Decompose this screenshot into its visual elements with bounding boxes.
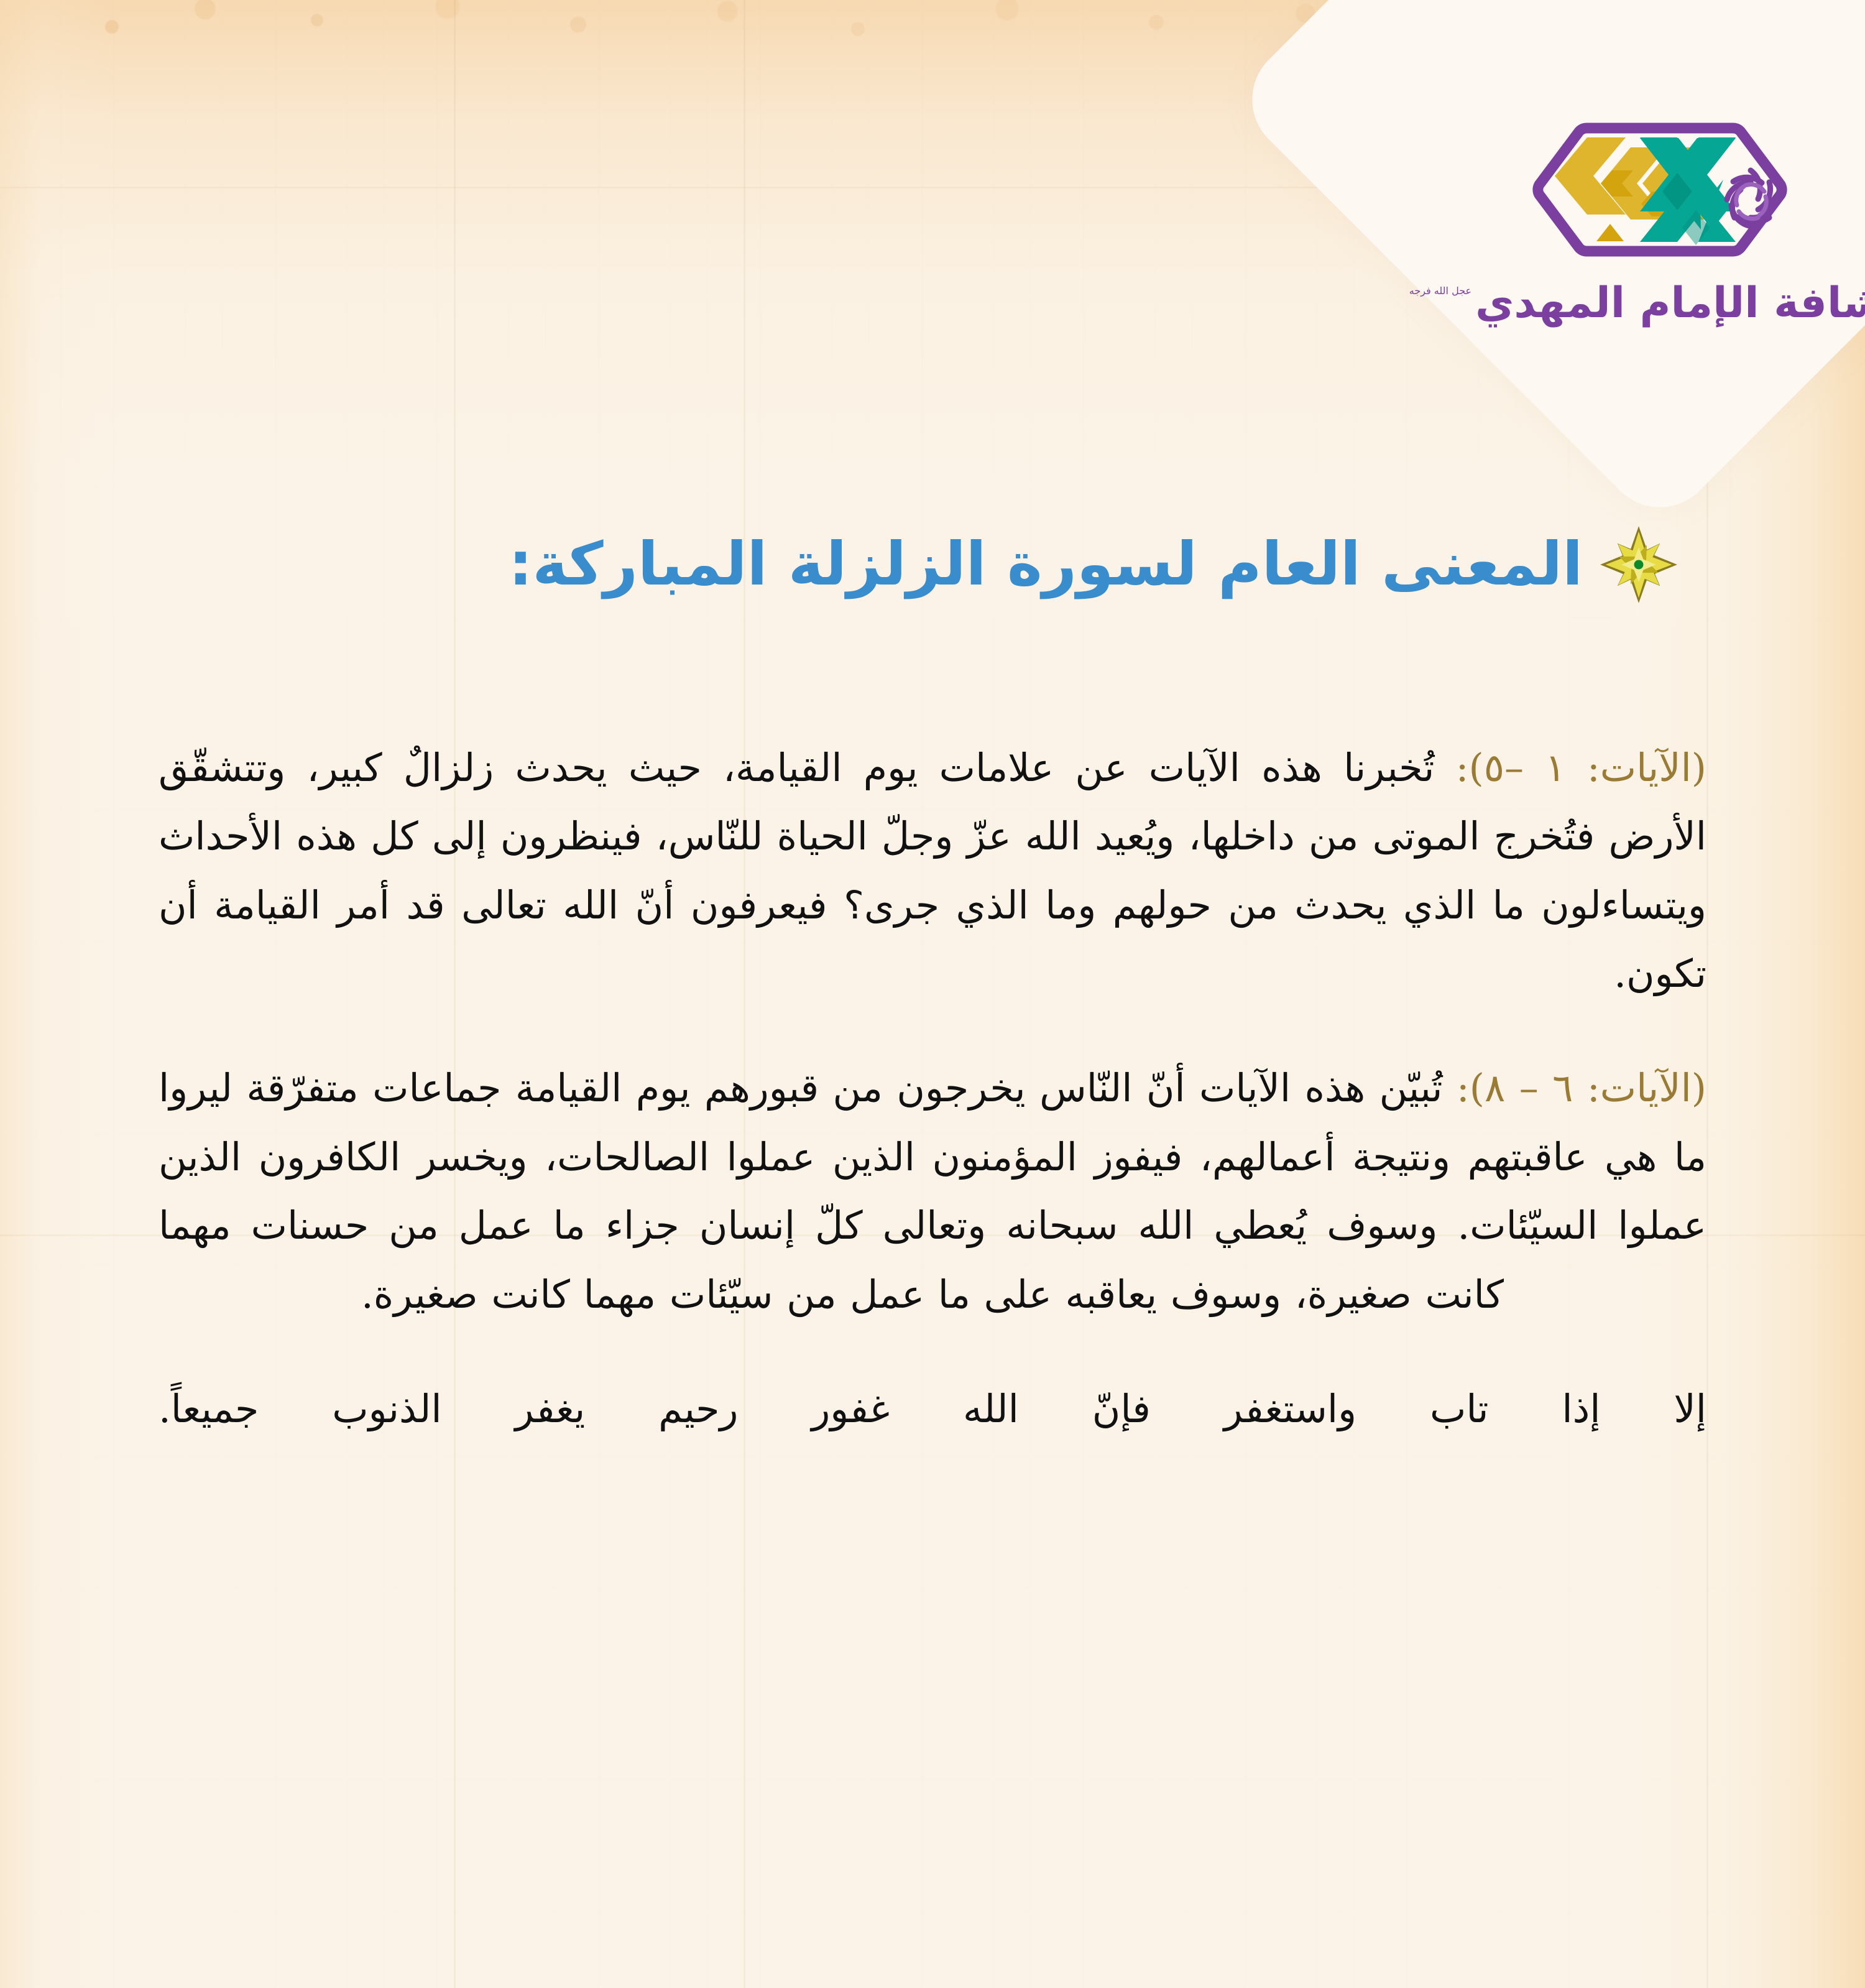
title-row: المعنى العام لسورة الزلزلة المباركة: bbox=[186, 491, 1678, 638]
brand-wordmark-text: كشافة الإمام المهدي bbox=[1475, 282, 1865, 325]
page-root: كشافة الإمام المهدي عجل الله فرجه bbox=[0, 0, 1865, 1988]
article-body: (الآيات: ١ –٥): تُخبرنا هذه الآيات عن عل… bbox=[159, 734, 1706, 1443]
brand-wordmark: كشافة الإمام المهدي عجل الله فرجه bbox=[1409, 282, 1865, 325]
brand-logo: كشافة الإمام المهدي عجل الله فرجه bbox=[1486, 118, 1834, 325]
scouts-hexagon-logo-icon bbox=[1529, 118, 1790, 261]
eight-point-star-ornament-icon bbox=[1599, 525, 1678, 604]
verse-reference-1-5: (الآيات: ١ –٥): bbox=[1456, 745, 1706, 790]
closing-line: إلا إذا تاب واستغفر فإنّ الله غفور رحيم … bbox=[159, 1375, 1706, 1443]
paragraph-verses-1-5: (الآيات: ١ –٥): تُخبرنا هذه الآيات عن عل… bbox=[159, 734, 1706, 1008]
paragraph-verses-6-8: (الآيات: ٦ – ٨): تُبيّن هذه الآيات أنّ ا… bbox=[159, 1054, 1706, 1328]
brand-honorific: عجل الله فرجه bbox=[1409, 282, 1471, 297]
verse-reference-6-8: (الآيات: ٦ – ٨): bbox=[1457, 1065, 1706, 1111]
page-title: المعنى العام لسورة الزلزلة المباركة: bbox=[509, 531, 1583, 598]
